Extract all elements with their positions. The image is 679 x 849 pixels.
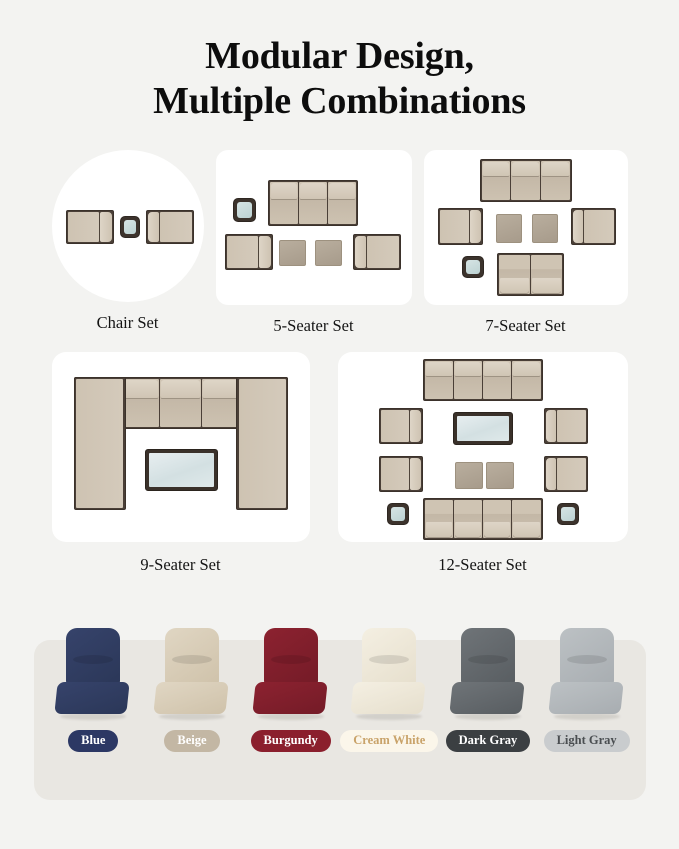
cushion-chair-icon [449, 628, 527, 720]
config-label: Chair Set [97, 313, 159, 333]
cushion-back [362, 628, 416, 686]
sofa-4-seat-icon [423, 498, 543, 540]
cushion-back [264, 628, 318, 686]
color-label: Dark Gray [446, 730, 531, 752]
config-card-12-seater[interactable]: 12-Seater Set [338, 352, 628, 575]
color-option-dark-gray[interactable]: Dark Gray [442, 628, 534, 752]
chair-icon [379, 408, 423, 444]
12-seater-diagram [338, 352, 628, 542]
cushion-seat [351, 682, 426, 714]
cushion-back [165, 628, 219, 686]
color-option-beige[interactable]: Beige [146, 628, 238, 752]
cushion-chair-icon [153, 628, 231, 720]
chair-icon [379, 456, 423, 492]
cushion-chair-icon [54, 628, 132, 720]
color-label: Cream White [340, 730, 438, 752]
chair-icon [225, 234, 273, 270]
chair-icon [544, 408, 588, 444]
cushion-chair-icon [350, 628, 428, 720]
cushion-chair-icon [252, 628, 330, 720]
chair-icon [66, 210, 114, 244]
color-label: Beige [164, 730, 219, 752]
side-table-icon [462, 256, 484, 278]
configuration-row-2: 9-Seater Set [0, 352, 679, 575]
5-seater-diagram [216, 150, 412, 305]
color-label: Burgundy [251, 730, 331, 752]
config-label: 9-Seater Set [140, 555, 220, 575]
sofa-3-seat-icon [480, 159, 572, 202]
color-option-cream-white[interactable]: Cream White [343, 628, 435, 752]
side-table-icon [557, 503, 579, 525]
ottoman-icon [455, 462, 483, 489]
chair-icon [146, 210, 194, 244]
config-card-chair-set[interactable]: Chair Set [52, 150, 204, 333]
cushion-seat [449, 682, 524, 714]
color-option-burgundy[interactable]: Burgundy [245, 628, 337, 752]
cushion-back [560, 628, 614, 686]
config-label: 5-Seater Set [273, 316, 353, 336]
color-options-panel: Blue Beige Burgundy Cream [34, 640, 646, 800]
side-table-icon [120, 216, 140, 238]
coffee-table-icon [453, 412, 513, 445]
config-card-5-seater[interactable]: 5-Seater Set [216, 150, 412, 336]
config-card-9-seater[interactable]: 9-Seater Set [52, 352, 310, 575]
config-card-7-seater[interactable]: 7-Seater Set [424, 150, 628, 336]
cushion-seat [548, 682, 623, 714]
side-table-icon [233, 198, 256, 222]
cushion-seat [153, 682, 228, 714]
ottoman-icon [315, 240, 342, 266]
coffee-table-icon [145, 449, 218, 491]
side-table-icon [387, 503, 409, 525]
config-label: 12-Seater Set [438, 555, 526, 575]
cushion-back [66, 628, 120, 686]
title-line-1: Modular Design, [205, 35, 474, 77]
color-swatch-row: Blue Beige Burgundy Cream [34, 640, 646, 752]
ottoman-icon [486, 462, 514, 489]
chair-icon [571, 208, 616, 245]
sofa-3-seat-icon [268, 180, 358, 226]
color-label: Light Gray [544, 730, 630, 752]
ottoman-icon [532, 214, 558, 243]
config-label: 7-Seater Set [485, 316, 565, 336]
cushion-chair-icon [548, 628, 626, 720]
chair-icon [353, 234, 401, 270]
title-line-2: Multiple Combinations [0, 79, 679, 124]
configuration-row-1: Chair Set 5-Seater Set [0, 150, 679, 336]
color-option-light-gray[interactable]: Light Gray [541, 628, 633, 752]
chair-set-diagram [52, 150, 204, 302]
chair-icon [438, 208, 483, 245]
7-seater-diagram [424, 150, 628, 305]
cushion-seat [55, 682, 130, 714]
ottoman-icon [496, 214, 522, 243]
color-option-blue[interactable]: Blue [47, 628, 139, 752]
cushion-back [461, 628, 515, 686]
sectional-left-icon [74, 377, 126, 510]
cushion-seat [252, 682, 327, 714]
sectional-right-icon [236, 377, 288, 510]
chair-icon [544, 456, 588, 492]
page-title: Modular Design, Multiple Combinations [0, 0, 679, 124]
color-label: Blue [68, 730, 118, 752]
ottoman-icon [279, 240, 306, 266]
sofa-4-seat-icon [423, 359, 543, 401]
sofa-2-seat-icon [497, 253, 564, 296]
9-seater-diagram [52, 352, 310, 542]
